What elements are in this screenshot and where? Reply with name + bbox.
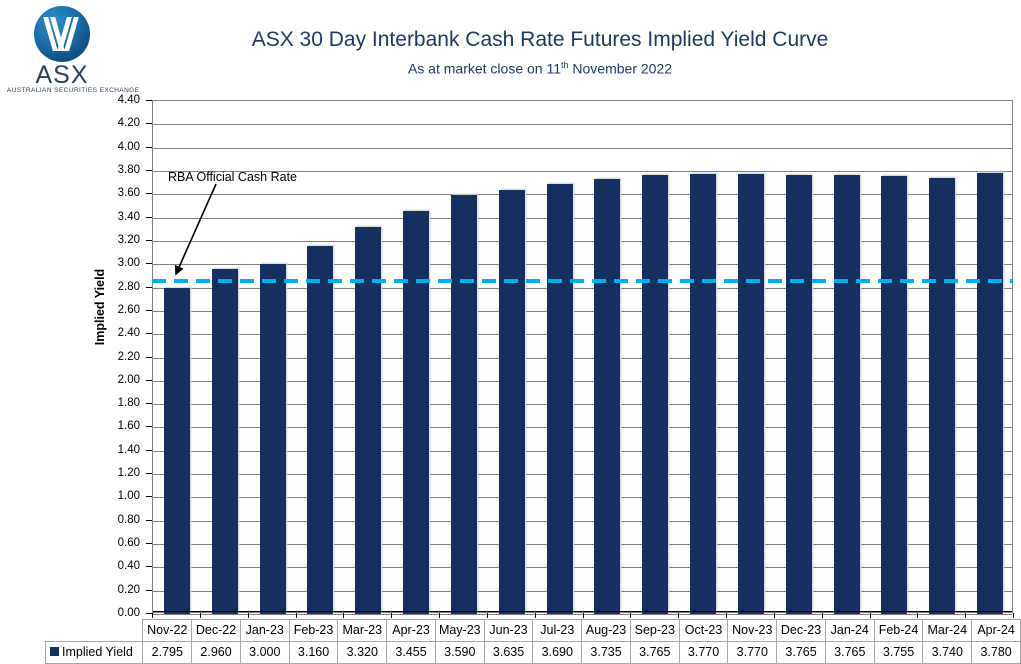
table-cell-value: 3.765 — [777, 641, 826, 663]
y-axis-label: 1.40 — [104, 445, 140, 455]
x-axis-tick — [487, 613, 488, 618]
table-cell-value: 3.735 — [582, 641, 631, 663]
chart-subtitle-prefix: As at market close on 11 — [408, 61, 561, 77]
table-column-header: Dec-22 — [192, 620, 241, 642]
table-cell-value: 3.160 — [289, 641, 338, 663]
bar — [690, 174, 716, 614]
x-axis-tick — [583, 613, 584, 618]
table-cell-value: 3.770 — [728, 641, 777, 663]
x-axis-tick — [200, 613, 201, 618]
x-axis-tick — [439, 613, 440, 618]
y-axis-label: 4.00 — [104, 142, 140, 152]
bar — [451, 195, 477, 614]
y-axis-label: 0.20 — [104, 585, 140, 595]
table-column-header: Mar-23 — [338, 620, 387, 642]
bar — [260, 264, 286, 614]
x-axis-tick — [774, 613, 775, 618]
y-axis-label: 4.20 — [104, 118, 140, 128]
x-axis-tick — [726, 613, 727, 618]
bar — [547, 184, 573, 614]
table-cell-value: 3.635 — [484, 641, 533, 663]
asx-logo-wordmark: ASX — [8, 63, 116, 87]
gridline — [153, 124, 1012, 125]
y-axis-label: 2.80 — [104, 282, 140, 292]
rba-annotation-label: RBA Official Cash Rate — [168, 170, 297, 184]
bar — [164, 288, 190, 614]
y-axis-label: 0.40 — [104, 561, 140, 571]
chart-subtitle: As at market close on 11th November 2022 — [140, 60, 940, 77]
table-column-header: Jan-24 — [825, 620, 874, 642]
table-column-header: Nov-23 — [728, 620, 777, 642]
x-axis-tick — [822, 613, 823, 618]
y-axis-label: 1.60 — [104, 421, 140, 431]
table-column-header: Jun-23 — [484, 620, 533, 642]
bar — [594, 179, 620, 614]
y-axis-label: 2.20 — [104, 352, 140, 362]
bar — [212, 269, 238, 614]
legend-series-label: Implied Yield — [62, 645, 133, 659]
chart-subtitle-suffix: November 2022 — [569, 61, 673, 77]
legend-swatch-icon — [50, 647, 59, 656]
table-cell-value: 3.590 — [435, 641, 484, 663]
table-column-header: Feb-23 — [289, 620, 338, 642]
y-axis-label: 1.20 — [104, 468, 140, 478]
y-axis-label: 0.80 — [104, 515, 140, 525]
table-column-header: Apr-24 — [972, 620, 1021, 642]
y-axis-label: 2.00 — [104, 375, 140, 385]
legend-series-cell: Implied Yield — [46, 641, 143, 663]
table-column-header: Jul-23 — [533, 620, 582, 642]
table-corner-cell — [46, 620, 143, 642]
x-axis-tick — [296, 613, 297, 618]
y-axis-label: 1.00 — [104, 491, 140, 501]
asx-logo-tagline: AUSTRALIAN SECURITIES EXCHANGE — [7, 87, 117, 94]
y-axis-label: 3.80 — [104, 165, 140, 175]
gridline — [153, 148, 1012, 149]
y-axis-label: 3.20 — [104, 235, 140, 245]
x-axis-tick — [678, 613, 679, 618]
y-axis-label: 0.60 — [104, 538, 140, 548]
chart-title: ASX 30 Day Interbank Cash Rate Futures I… — [140, 28, 940, 52]
table-column-header: May-23 — [435, 620, 484, 642]
y-axis-label: 3.60 — [104, 188, 140, 198]
x-axis-tick — [870, 613, 871, 618]
y-axis-label: 1.80 — [104, 398, 140, 408]
table-cell-value: 3.000 — [240, 641, 289, 663]
rba-cash-rate-reference-line — [152, 279, 1013, 283]
bar — [977, 173, 1003, 614]
bar — [642, 175, 668, 614]
table-cell-value: 2.960 — [192, 641, 241, 663]
x-axis-tick — [391, 613, 392, 618]
x-axis-tick — [535, 613, 536, 618]
table-cell-value: 3.320 — [338, 641, 387, 663]
x-axis-tick — [630, 613, 631, 618]
bar — [499, 190, 525, 614]
y-axis-label: 0.00 — [104, 608, 140, 618]
bar — [929, 178, 955, 614]
table-cell-value: 3.740 — [923, 641, 972, 663]
table-cell-value: 3.765 — [825, 641, 874, 663]
table-cell-value: 2.795 — [143, 641, 192, 663]
data-table: Nov-22Dec-22Jan-23Feb-23Mar-23Apr-23May-… — [45, 619, 1021, 664]
x-axis-line — [153, 611, 1012, 612]
table-cell-value: 3.755 — [874, 641, 923, 663]
y-axis-label: 2.60 — [104, 305, 140, 315]
table-column-header: Nov-22 — [143, 620, 192, 642]
table-column-header: Sep-23 — [630, 620, 679, 642]
bar — [786, 175, 812, 614]
x-axis-tick — [343, 613, 344, 618]
table-column-header: Jan-23 — [240, 620, 289, 642]
y-axis-label: 4.40 — [104, 95, 140, 105]
bar — [738, 174, 764, 614]
table-cell-value: 3.455 — [387, 641, 436, 663]
y-axis-label: 2.40 — [104, 328, 140, 338]
table-column-header: Feb-24 — [874, 620, 923, 642]
table-header-row: Nov-22Dec-22Jan-23Feb-23Mar-23Apr-23May-… — [46, 620, 1021, 642]
table-column-header: Aug-23 — [582, 620, 631, 642]
bar — [307, 246, 333, 614]
x-axis-tick — [248, 613, 249, 618]
table-cell-value: 3.770 — [679, 641, 728, 663]
x-axis-tick — [152, 613, 153, 618]
table-column-header: Oct-23 — [679, 620, 728, 642]
x-axis-tick — [917, 613, 918, 618]
bar — [355, 227, 381, 614]
table-column-header: Apr-23 — [387, 620, 436, 642]
asx-logo: ASX AUSTRALIAN SECURITIES EXCHANGE — [8, 6, 116, 98]
x-axis-tick — [1013, 613, 1014, 618]
table-cell-value: 3.780 — [972, 641, 1021, 663]
table-column-header: Dec-23 — [777, 620, 826, 642]
table-column-header: Mar-24 — [923, 620, 972, 642]
table-cell-value: 3.765 — [630, 641, 679, 663]
chart-subtitle-ordinal: th — [561, 60, 569, 70]
y-axis-label: 3.40 — [104, 212, 140, 222]
table-row: Implied Yield 2.7952.9603.0003.1603.3203… — [46, 641, 1021, 663]
table-cell-value: 3.690 — [533, 641, 582, 663]
bar — [403, 211, 429, 614]
y-axis-label: 3.00 — [104, 258, 140, 268]
bar — [834, 175, 860, 614]
x-axis-tick — [965, 613, 966, 618]
asx-circle-logo-icon — [34, 6, 90, 62]
bar — [881, 176, 907, 614]
